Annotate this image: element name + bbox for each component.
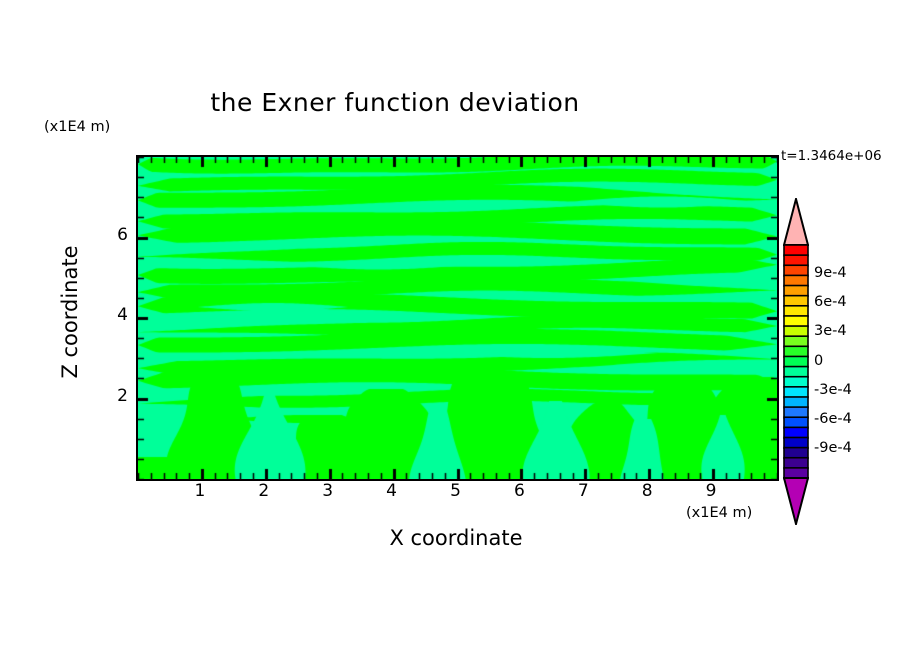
y-tick-label: 6 <box>98 225 128 245</box>
axis-ticks <box>138 157 777 479</box>
colorbar-band <box>784 437 808 448</box>
colorbar-tick-label: -6e-4 <box>814 411 852 427</box>
colorbar-band <box>784 448 808 459</box>
x-tick-label: 5 <box>441 481 471 501</box>
plot-area <box>136 155 779 481</box>
colorbar-tick-label: 0 <box>814 353 823 369</box>
x-axis-title: X coordinate <box>236 526 676 550</box>
x-tick-label: 7 <box>568 481 598 501</box>
colorbar-band <box>784 417 808 428</box>
colorbar <box>784 199 808 524</box>
colorbar-band <box>784 336 808 347</box>
colorbar-band <box>784 275 808 286</box>
x-tick-label: 2 <box>249 481 279 501</box>
y-tick-label: 2 <box>98 386 128 406</box>
colorbar-band <box>784 377 808 388</box>
colorbar-band <box>784 255 808 266</box>
colorbar-tick-label: 3e-4 <box>814 323 847 339</box>
colorbar-band <box>784 245 808 256</box>
colorbar-band <box>784 286 808 297</box>
colorbar-band <box>784 316 808 327</box>
colorbar-band <box>784 296 808 307</box>
colorbar-band <box>784 407 808 418</box>
contour-plot-figure: the Exner function deviation (x1E4 m) (x… <box>0 0 904 654</box>
y-axis-title: Z coordinate <box>58 222 82 402</box>
x-tick-label: 6 <box>504 481 534 501</box>
colorbar-band <box>784 468 808 479</box>
colorbar-tick-label: -9e-4 <box>814 440 852 456</box>
x-tick-label: 8 <box>632 481 662 501</box>
time-annotation: t=1.3464e+06 <box>781 148 882 164</box>
colorbar-band <box>784 397 808 408</box>
y-tick-label: 4 <box>98 305 128 325</box>
colorbar-band <box>784 346 808 357</box>
x-axis-units-label: (x1E4 m) <box>686 505 752 521</box>
x-tick-label: 3 <box>313 481 343 501</box>
x-tick-label: 4 <box>377 481 407 501</box>
colorbar-band <box>784 387 808 398</box>
page-title: the Exner function deviation <box>0 88 790 117</box>
colorbar-band <box>784 326 808 337</box>
colorbar-tick-label: -3e-4 <box>814 382 852 398</box>
colorbar-band <box>784 265 808 276</box>
y-axis-units-label: (x1E4 m) <box>44 119 110 135</box>
colorbar-band <box>784 356 808 367</box>
colorbar-band <box>784 458 808 469</box>
x-tick-label: 9 <box>696 481 726 501</box>
colorbar-band <box>784 367 808 378</box>
colorbar-tick-label: 6e-4 <box>814 294 847 310</box>
x-tick-label: 1 <box>185 481 215 501</box>
colorbar-swatches <box>783 198 809 525</box>
colorbar-tick-label: 9e-4 <box>814 265 847 281</box>
colorbar-band <box>784 306 808 317</box>
colorbar-band <box>784 427 808 438</box>
